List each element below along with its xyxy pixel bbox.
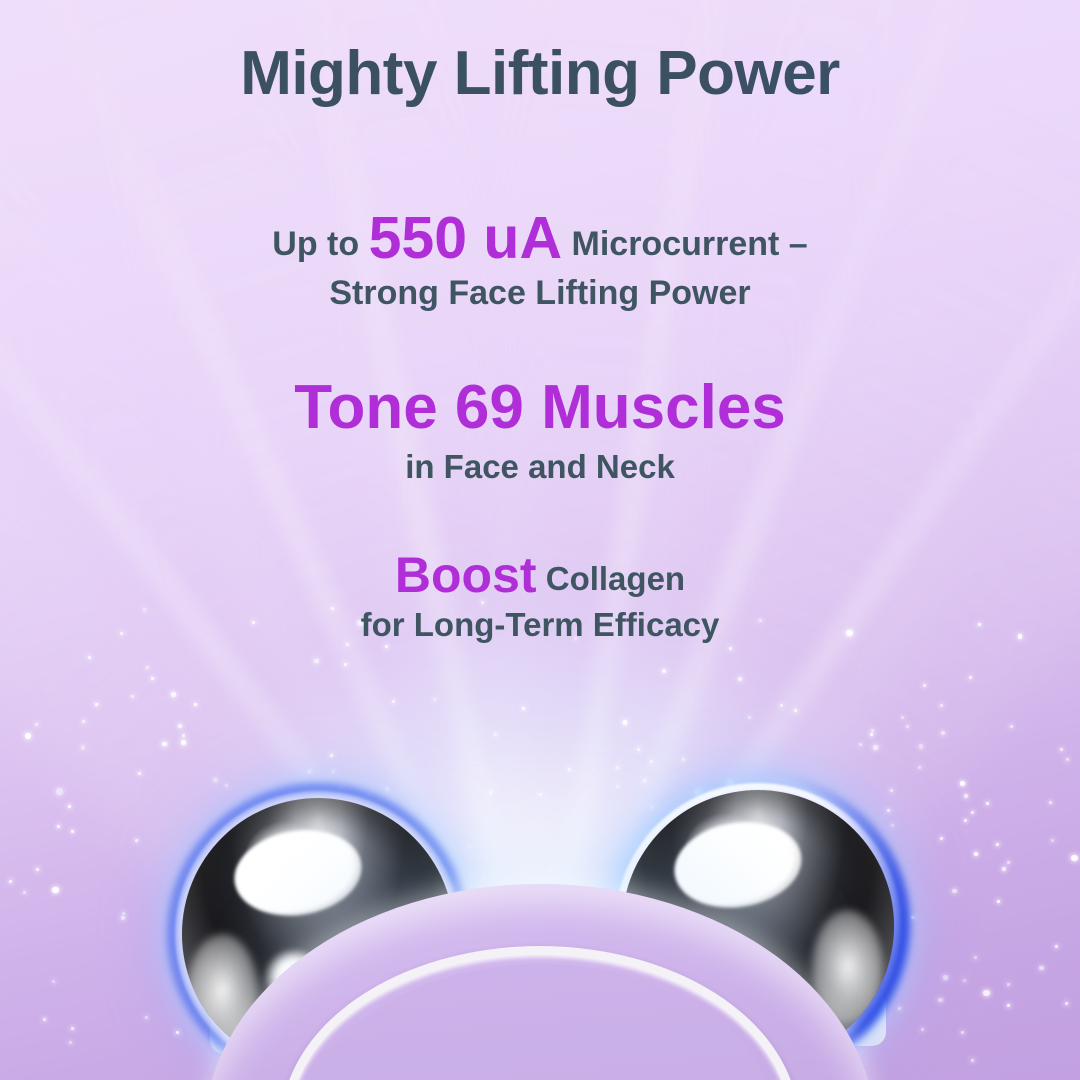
feature-text-pre: Up to [272, 225, 368, 263]
feature-collagen-line2: for Long-Term Efficacy [0, 606, 1080, 644]
feature-microcurrent-line1: Up to 550 uA Microcurrent – [0, 205, 1080, 272]
product-feature-poster: Mighty Lifting Power Up to 550 uA Microc… [0, 0, 1080, 1080]
feature-muscles-line2: in Face and Neck [0, 448, 1080, 486]
feature-text-post: Collagen [537, 560, 686, 597]
feature-collagen-line1: Boost Collagen [0, 547, 1080, 604]
feature-text-post: Microcurrent – [562, 225, 808, 263]
feature-accent-value: Boost [395, 547, 537, 603]
page-title: Mighty Lifting Power [0, 0, 1080, 108]
feature-muscles: Tone 69 Muscles in Face and Neck [0, 373, 1080, 485]
feature-collagen: Boost Collagen for Long-Term Efficacy [0, 547, 1080, 644]
feature-microcurrent: Up to 550 uA Microcurrent – Strong Face … [0, 205, 1080, 313]
feature-accent-value: 550 uA [369, 205, 562, 271]
poster-content: Mighty Lifting Power Up to 550 uA Microc… [0, 0, 1080, 1080]
feature-muscles-line1: Tone 69 Muscles [0, 373, 1080, 444]
feature-microcurrent-line2: Strong Face Lifting Power [0, 274, 1080, 313]
